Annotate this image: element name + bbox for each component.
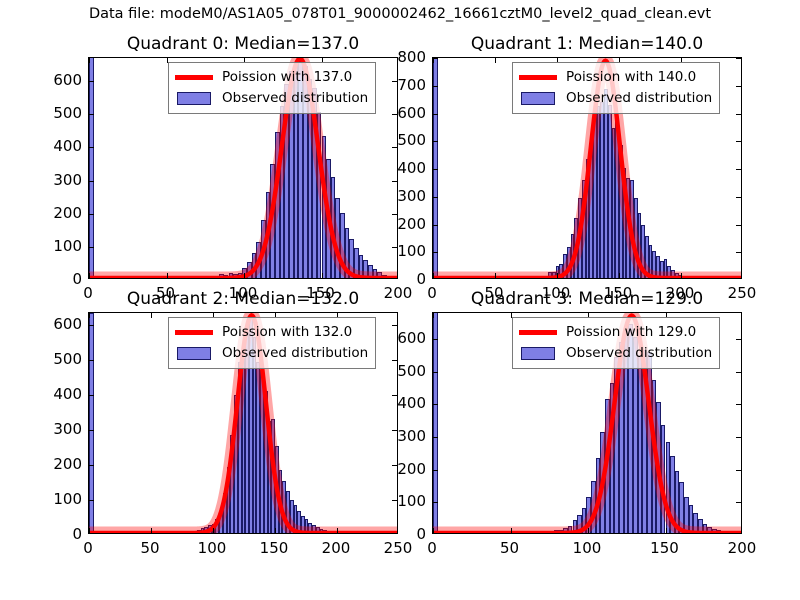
x-tick-mark bbox=[89, 528, 90, 533]
x-tick-mark bbox=[495, 273, 496, 278]
y-tick-mark bbox=[736, 502, 741, 503]
x-tick-mark bbox=[89, 58, 90, 63]
y-tick-mark bbox=[433, 339, 438, 340]
x-tick-label: 100 bbox=[573, 539, 602, 557]
legend-label-fit: Poission with 140.0 bbox=[566, 71, 696, 85]
y-tick-label: 0 bbox=[376, 270, 426, 288]
line-swatch-icon bbox=[519, 71, 557, 85]
x-tick-mark bbox=[151, 313, 152, 318]
legend-entry-fit: Poission with 129.0 bbox=[519, 322, 712, 343]
y-tick-mark bbox=[736, 225, 741, 226]
x-tick-label: 100 bbox=[198, 539, 227, 557]
quadrant-0-axes: Quadrant 0: Median=137.0Poission with 13… bbox=[88, 57, 398, 279]
patch-swatch-icon bbox=[175, 92, 213, 106]
y-tick-label: 500 bbox=[376, 362, 426, 380]
y-tick-label: 100 bbox=[32, 490, 82, 508]
y-tick-mark bbox=[89, 465, 94, 466]
x-tick-label: 0 bbox=[83, 539, 93, 557]
y-tick-mark bbox=[89, 325, 94, 326]
y-tick-mark bbox=[433, 372, 438, 373]
y-tick-mark bbox=[736, 372, 741, 373]
x-tick-label: 50 bbox=[140, 539, 159, 557]
legend-entry-fit: Poission with 132.0 bbox=[175, 322, 368, 343]
y-tick-label: 700 bbox=[376, 76, 426, 94]
y-tick-label: 100 bbox=[376, 242, 426, 260]
y-tick-label: 0 bbox=[32, 525, 82, 543]
quadrant-0-title: Quadrant 0: Median=137.0 bbox=[88, 34, 398, 54]
y-tick-label: 200 bbox=[376, 460, 426, 478]
quadrant-2-axes: Quadrant 2: Median=132.0Poission with 13… bbox=[88, 312, 398, 534]
x-tick-label: 150 bbox=[260, 539, 289, 557]
x-tick-mark bbox=[167, 273, 168, 278]
figure-canvas: Data file: modeM0/AS1A05_078T01_90000024… bbox=[0, 0, 800, 600]
x-tick-label: 50 bbox=[500, 539, 519, 557]
y-tick-label: 600 bbox=[376, 329, 426, 347]
quadrant-2-legend: Poission with 132.0Observed distribution bbox=[168, 317, 376, 369]
legend-label-fit: Poission with 129.0 bbox=[566, 326, 696, 340]
y-tick-mark bbox=[89, 360, 94, 361]
quadrant-1-title: Quadrant 1: Median=140.0 bbox=[432, 34, 742, 54]
y-tick-mark bbox=[433, 197, 438, 198]
y-tick-mark bbox=[433, 114, 438, 115]
x-tick-mark bbox=[244, 273, 245, 278]
x-tick-label: 0 bbox=[427, 539, 437, 557]
quadrant-1-axes: Quadrant 1: Median=140.0Poission with 14… bbox=[432, 57, 742, 279]
x-tick-label: 200 bbox=[728, 539, 757, 557]
legend-label-observed: Observed distribution bbox=[222, 347, 368, 361]
y-tick-mark bbox=[89, 114, 94, 115]
x-tick-mark bbox=[681, 273, 682, 278]
y-tick-mark bbox=[433, 141, 438, 142]
legend-label-observed: Observed distribution bbox=[566, 92, 712, 106]
quadrant-2-plot-area: Poission with 132.0Observed distribution bbox=[88, 312, 398, 534]
figure-suptitle: Data file: modeM0/AS1A05_078T01_90000024… bbox=[0, 6, 800, 22]
y-tick-label: 200 bbox=[376, 215, 426, 233]
line-swatch-icon bbox=[175, 71, 213, 85]
x-tick-mark bbox=[433, 528, 434, 533]
y-tick-mark bbox=[392, 181, 397, 182]
y-tick-label: 500 bbox=[376, 131, 426, 149]
y-tick-mark bbox=[89, 214, 94, 215]
x-tick-mark bbox=[89, 273, 90, 278]
legend-entry-observed: Observed distribution bbox=[519, 343, 712, 364]
x-tick-mark bbox=[433, 313, 434, 318]
y-tick-label: 500 bbox=[32, 104, 82, 122]
y-tick-label: 500 bbox=[32, 350, 82, 368]
y-tick-label: 600 bbox=[32, 71, 82, 89]
x-tick-mark bbox=[619, 273, 620, 278]
x-tick-mark bbox=[557, 273, 558, 278]
quadrant-0-legend: Poission with 137.0Observed distribution bbox=[168, 62, 376, 114]
y-tick-mark bbox=[89, 147, 94, 148]
y-tick-label: 400 bbox=[32, 385, 82, 403]
y-tick-label: 200 bbox=[32, 204, 82, 222]
y-tick-mark bbox=[89, 395, 94, 396]
y-tick-label: 400 bbox=[376, 394, 426, 412]
x-tick-mark bbox=[666, 528, 667, 533]
y-tick-mark bbox=[736, 470, 741, 471]
x-tick-mark bbox=[433, 273, 434, 278]
y-tick-mark bbox=[89, 500, 94, 501]
y-tick-mark bbox=[89, 181, 94, 182]
patch-swatch-icon bbox=[175, 347, 213, 361]
y-tick-label: 0 bbox=[376, 525, 426, 543]
y-tick-mark bbox=[433, 404, 438, 405]
legend-entry-fit: Poission with 137.0 bbox=[175, 67, 368, 88]
x-tick-label: 200 bbox=[322, 539, 351, 557]
legend-entry-observed: Observed distribution bbox=[175, 343, 368, 364]
y-tick-mark bbox=[433, 252, 438, 253]
y-tick-label: 600 bbox=[376, 104, 426, 122]
y-tick-mark bbox=[89, 81, 94, 82]
quadrant-3-legend: Poission with 129.0Observed distribution bbox=[512, 317, 720, 369]
y-tick-label: 100 bbox=[376, 492, 426, 510]
x-tick-mark bbox=[322, 273, 323, 278]
x-tick-mark bbox=[511, 528, 512, 533]
legend-entry-observed: Observed distribution bbox=[175, 88, 368, 109]
x-tick-label: 150 bbox=[650, 539, 679, 557]
y-tick-label: 0 bbox=[32, 270, 82, 288]
legend-entry-fit: Poission with 140.0 bbox=[519, 67, 712, 88]
y-tick-label: 100 bbox=[32, 237, 82, 255]
y-tick-label: 600 bbox=[32, 315, 82, 333]
quadrant-1-plot-area: Poission with 140.0Observed distribution bbox=[432, 57, 742, 279]
quadrant-1-legend: Poission with 140.0Observed distribution bbox=[512, 62, 720, 114]
y-tick-label: 300 bbox=[376, 427, 426, 445]
legend-label-fit: Poission with 132.0 bbox=[222, 326, 352, 340]
patch-swatch-icon bbox=[519, 347, 557, 361]
x-tick-mark bbox=[337, 528, 338, 533]
y-tick-mark bbox=[736, 86, 741, 87]
y-tick-mark bbox=[736, 252, 741, 253]
y-tick-mark bbox=[433, 169, 438, 170]
line-swatch-icon bbox=[175, 326, 213, 340]
y-tick-label: 400 bbox=[32, 137, 82, 155]
legend-label-observed: Observed distribution bbox=[222, 92, 368, 106]
y-tick-mark bbox=[89, 247, 94, 248]
y-tick-mark bbox=[736, 339, 741, 340]
legend-label-fit: Poission with 137.0 bbox=[222, 71, 352, 85]
quadrant-2-title: Quadrant 2: Median=132.0 bbox=[88, 289, 398, 309]
y-tick-mark bbox=[736, 404, 741, 405]
y-tick-mark bbox=[736, 141, 741, 142]
y-tick-mark bbox=[736, 197, 741, 198]
y-tick-mark bbox=[392, 325, 397, 326]
x-tick-mark bbox=[151, 528, 152, 533]
y-tick-label: 200 bbox=[32, 455, 82, 473]
y-tick-mark bbox=[433, 470, 438, 471]
y-tick-mark bbox=[433, 502, 438, 503]
y-tick-mark bbox=[89, 430, 94, 431]
y-tick-mark bbox=[433, 437, 438, 438]
line-swatch-icon bbox=[519, 326, 557, 340]
quadrant-3-title: Quadrant 3: Median=129.0 bbox=[432, 289, 742, 309]
x-tick-mark bbox=[213, 528, 214, 533]
y-tick-label: 300 bbox=[376, 187, 426, 205]
y-tick-mark bbox=[736, 114, 741, 115]
x-tick-mark bbox=[588, 528, 589, 533]
y-tick-mark bbox=[736, 169, 741, 170]
y-tick-mark bbox=[736, 437, 741, 438]
y-tick-label: 400 bbox=[376, 159, 426, 177]
y-tick-label: 300 bbox=[32, 171, 82, 189]
quadrant-0-plot-area: Poission with 137.0Observed distribution bbox=[88, 57, 398, 279]
x-tick-mark bbox=[433, 58, 434, 63]
y-tick-mark bbox=[736, 58, 741, 59]
quadrant-3-axes: Quadrant 3: Median=129.0Poission with 12… bbox=[432, 312, 742, 534]
quadrant-3-plot-area: Poission with 129.0Observed distribution bbox=[432, 312, 742, 534]
y-tick-label: 800 bbox=[376, 48, 426, 66]
patch-swatch-icon bbox=[519, 92, 557, 106]
y-tick-mark bbox=[433, 86, 438, 87]
y-tick-mark bbox=[433, 225, 438, 226]
x-tick-mark bbox=[89, 313, 90, 318]
y-tick-label: 300 bbox=[32, 420, 82, 438]
x-tick-mark bbox=[495, 58, 496, 63]
x-tick-mark bbox=[275, 528, 276, 533]
legend-label-observed: Observed distribution bbox=[566, 347, 712, 361]
legend-entry-observed: Observed distribution bbox=[519, 88, 712, 109]
